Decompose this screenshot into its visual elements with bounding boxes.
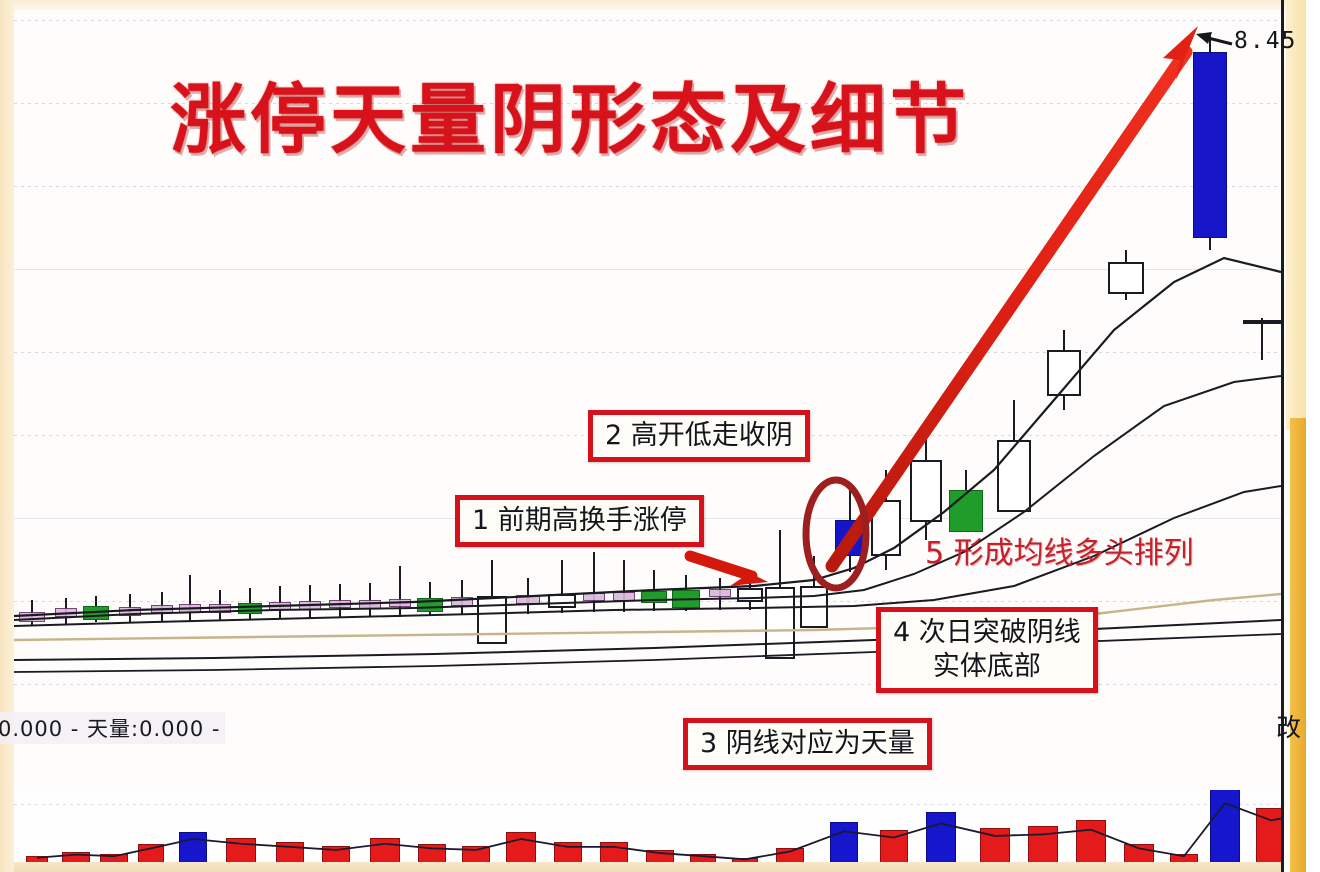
candle-body	[151, 605, 173, 613]
volume-bar	[926, 812, 956, 864]
annotation-2: 2 高开低走收阴	[588, 410, 810, 462]
candle-body	[672, 590, 700, 608]
page-frame-right-edge	[1306, 0, 1320, 872]
volume-bar	[554, 842, 582, 864]
volume-chart-panel	[14, 790, 1281, 872]
candle-body	[1243, 320, 1281, 324]
annotation-1-line-1: 1 前期高换手涨停	[472, 504, 687, 538]
annotation-5: 5 形成均线多头排列	[925, 528, 1194, 572]
candle-body	[871, 500, 901, 556]
candle-body	[997, 440, 1031, 512]
volume-bar	[880, 830, 908, 864]
page-frame-top	[0, 0, 1320, 10]
candle-body	[19, 612, 45, 622]
candle-body	[299, 601, 321, 610]
candle-body	[1047, 350, 1081, 396]
candle-body	[477, 596, 507, 644]
annotation-2-line-1: 2 高开低走收阴	[605, 419, 793, 453]
candle-body	[83, 606, 109, 620]
volume-bar	[226, 838, 256, 864]
candle-body	[269, 602, 291, 610]
candle-body	[417, 598, 443, 612]
volume-bar	[830, 822, 858, 864]
volume-bar	[600, 842, 628, 864]
candle-body	[641, 591, 667, 603]
annotation-3: 3 阴线对应为天量	[683, 718, 932, 770]
candle-wick	[593, 552, 595, 612]
candle-body	[359, 600, 381, 609]
candle-body	[55, 608, 77, 617]
candle-body	[583, 593, 605, 601]
volume-bar	[138, 844, 164, 864]
volume-bar	[980, 828, 1010, 864]
candle-body	[209, 604, 231, 613]
candle-body	[238, 603, 262, 614]
candle-body	[1108, 262, 1144, 294]
candle-wick	[189, 575, 191, 621]
candle-wick	[1261, 318, 1263, 360]
annotation-3-line-1: 3 阴线对应为天量	[700, 727, 915, 761]
volume-baseline	[14, 862, 1281, 872]
candle-body	[737, 588, 763, 602]
stock-chart-screenshot: 涨停天量阴形态及细节 8.45 0.000 - 天量:0.000 - 改 1 前…	[0, 0, 1320, 872]
candle-body	[949, 490, 983, 532]
page-title: 涨停天量阴形态及细节	[170, 58, 970, 168]
annotation-5-line-1: 5 形成均线多头排列	[925, 528, 1194, 572]
candle-body	[765, 587, 795, 659]
candle-body	[910, 460, 942, 522]
volume-bar	[1124, 844, 1154, 864]
volume-bar	[1076, 820, 1106, 864]
annotation-4-line-1: 4 次日突破阴线	[893, 616, 1081, 650]
price-label: 8.45	[1234, 28, 1297, 54]
volume-bar	[1028, 826, 1058, 864]
candle-body	[451, 597, 473, 606]
page-frame-right-lower	[1290, 418, 1306, 872]
candle-body	[516, 595, 540, 604]
volume-bar	[370, 838, 400, 864]
volume-bar	[1210, 790, 1240, 864]
candle-body	[389, 599, 411, 607]
page-frame-right-upper	[1286, 0, 1306, 430]
candle-body	[329, 600, 351, 608]
volume-bar	[418, 844, 446, 864]
candle-body	[179, 604, 201, 613]
edge-partial-char: 改	[1276, 708, 1301, 744]
volume-bar	[506, 832, 536, 864]
volume-bar	[179, 832, 207, 864]
annotation-4-line-2: 实体底部	[893, 650, 1081, 684]
volume-gridline	[14, 804, 1281, 805]
annotation-4: 4 次日突破阴线实体底部	[876, 607, 1098, 693]
candle-body	[1193, 52, 1227, 238]
volume-bar	[276, 842, 304, 864]
candle-body	[119, 607, 141, 616]
volume-bar	[1256, 808, 1281, 864]
candle-body	[613, 592, 635, 601]
candle-body	[800, 586, 828, 628]
annotation-1: 1 前期高换手涨停	[455, 495, 704, 547]
status-bar-text: 0.000 - 天量:0.000 -	[0, 712, 225, 744]
candle-body	[548, 594, 576, 608]
candle-body	[835, 520, 865, 556]
candle-body	[709, 589, 731, 597]
candle-wick	[399, 566, 401, 617]
candle-wick	[623, 560, 625, 612]
